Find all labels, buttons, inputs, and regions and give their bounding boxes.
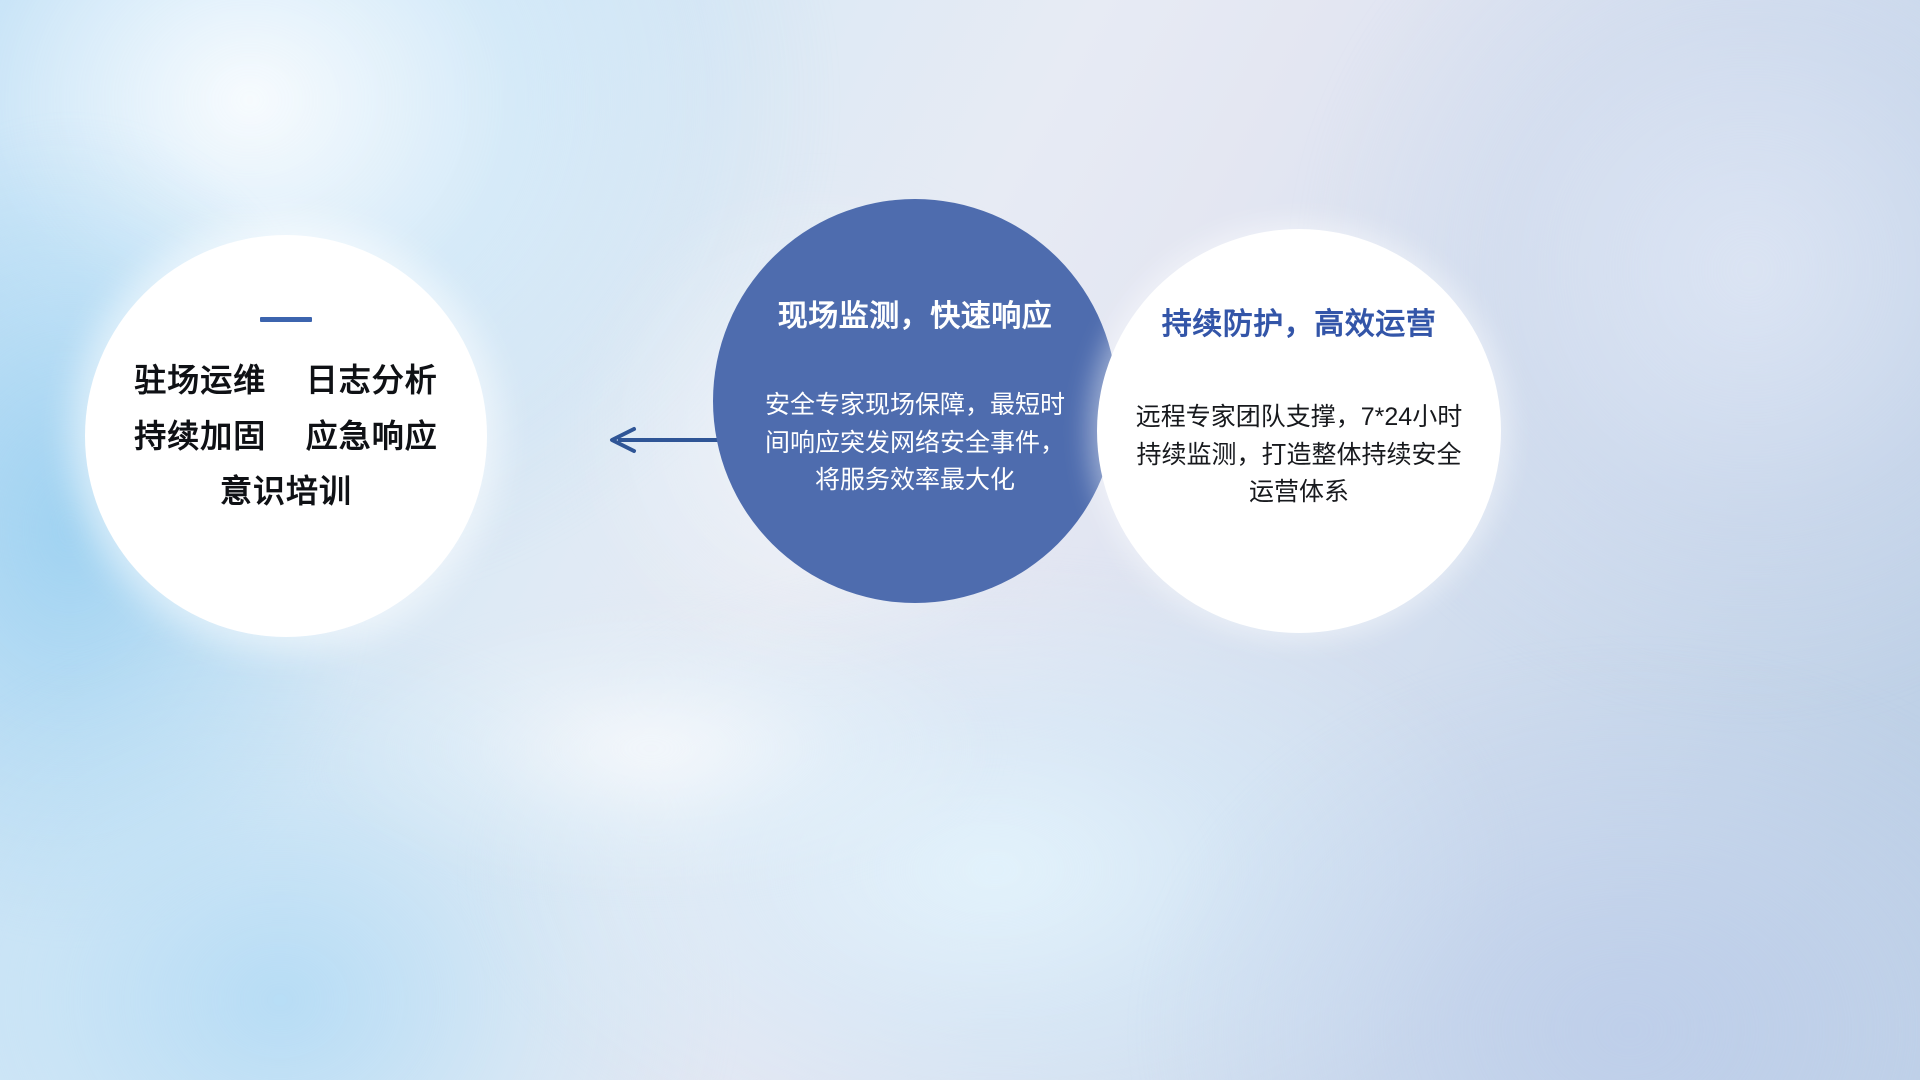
left-capability-circle[interactable]: 驻场运维 日志分析 持续加固 应急响应 意识培训: [85, 235, 487, 637]
middle-onsite-circle[interactable]: 现场监测，快速响应 安全专家现场保障，最短时间响应突发网络安全事件，将服务效率最…: [713, 199, 1117, 603]
list-item: 驻场运维 日志分析: [134, 364, 438, 398]
list-item: 意识培训: [220, 475, 352, 509]
slide-canvas: 驻场运维 日志分析 持续加固 应急响应 意识培训 现场监测，快速响应 安全专家现…: [0, 0, 1920, 1080]
right-operations-circle[interactable]: 持续防护，高效运营 远程专家团队支撑，7*24小时持续监测，打造整体持续安全运营…: [1097, 229, 1501, 633]
middle-circle-title: 现场监测，快速响应: [778, 291, 1053, 335]
right-circle-body: 远程专家团队支撑，7*24小时持续监测，打造整体持续安全运营体系: [1134, 399, 1464, 512]
middle-circle-body: 安全专家现场保障，最短时间响应突发网络安全事件，将服务效率最大化: [765, 387, 1065, 500]
left-keyword-list: 驻场运维 日志分析 持续加固 应急响应 意识培训: [134, 364, 438, 509]
right-circle-title: 持续防护，高效运营: [1162, 299, 1437, 343]
list-item: 持续加固 应急响应: [134, 420, 438, 454]
dash-accent-mark: [260, 317, 312, 322]
